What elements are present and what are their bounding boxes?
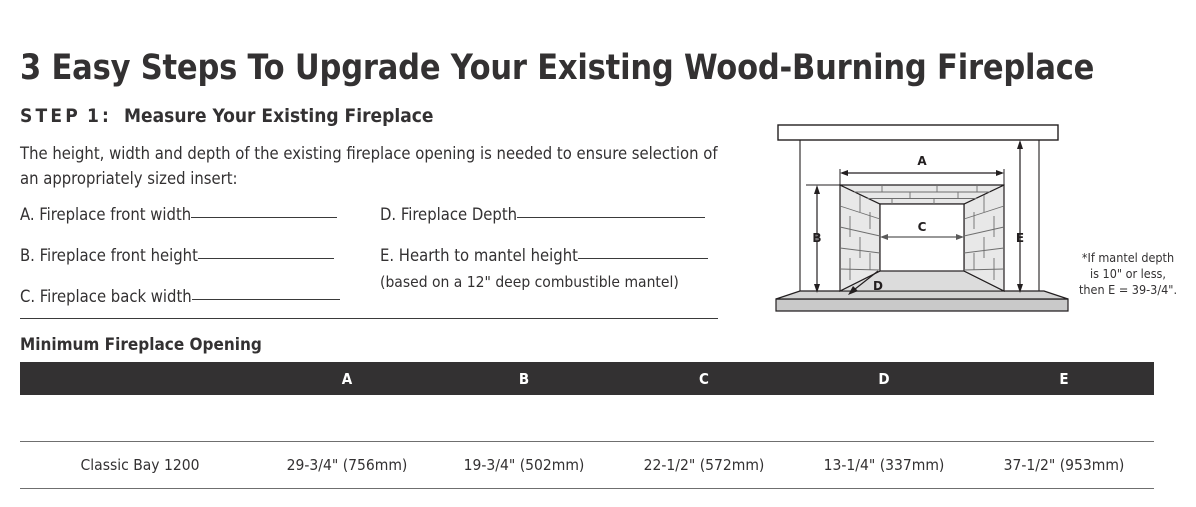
table-header-e: E	[974, 362, 1154, 395]
page-title: 3 Easy Steps To Upgrade Your Existing Wo…	[20, 48, 1094, 88]
cell-dimension-a: 29-3/4" (756mm)	[260, 442, 434, 489]
step-word: STEP	[20, 105, 81, 127]
measurement-blank-b[interactable]	[198, 258, 334, 259]
table-caption: Minimum Fireplace Opening	[20, 335, 262, 355]
hearth-slab-top	[776, 291, 1068, 299]
cell-model-name: Classic Bay 1200	[20, 442, 260, 489]
table-header-a: A	[260, 362, 434, 395]
dim-a-arrow-right	[996, 170, 1004, 176]
table-header-b: B	[434, 362, 614, 395]
measurement-label-a: A. Fireplace front width	[20, 205, 191, 224]
step-label: Measure Your Existing Fireplace	[124, 105, 433, 127]
diagram-label-b: B	[812, 231, 821, 245]
measurement-label-d: D. Fireplace Depth	[380, 205, 517, 224]
dim-a-arrow-left	[840, 170, 848, 176]
mantel-shelf	[778, 125, 1058, 140]
table-header-name	[20, 362, 260, 395]
table-header-d: D	[794, 362, 974, 395]
cell-dimension-e: 37-1/2" (953mm)	[974, 442, 1154, 489]
intro-paragraph: The height, width and depth of the exist…	[20, 141, 730, 191]
measurement-item-d: D. Fireplace Depth	[380, 205, 725, 224]
cell-dimension-d: 13-1/4" (337mm)	[794, 442, 974, 489]
measurement-label-b: B. Fireplace front height	[20, 246, 198, 265]
measurement-blank-d[interactable]	[517, 217, 705, 218]
measurement-blank-a[interactable]	[191, 217, 337, 218]
diagram-label-e: E	[1016, 231, 1024, 245]
table-header-row: A B C D E	[20, 362, 1154, 395]
footnote-line-3: then E = 39-3/4".	[1062, 282, 1194, 298]
table-row: Classic Bay 1200 29-3/4" (756mm) 19-3/4"…	[20, 442, 1154, 489]
table-spacer-row	[20, 395, 1154, 442]
minimum-fireplace-opening-table: A B C D E Classic Bay 1200 29-3/4" (756m…	[20, 362, 1154, 489]
dim-e-arrow-top	[1017, 140, 1023, 149]
measurement-list-right: D. Fireplace Depth E. Hearth to mantel h…	[380, 205, 725, 291]
measurement-item-e: E. Hearth to mantel height	[380, 246, 725, 265]
measurement-note: (based on a 12" deep combustible mantel)	[380, 273, 725, 291]
measurement-blank-c[interactable]	[192, 299, 340, 300]
measurement-item-b: B. Fireplace front height	[20, 246, 360, 265]
diagram-label-d: D	[873, 279, 883, 293]
cell-dimension-c: 22-1/2" (572mm)	[614, 442, 794, 489]
measurement-blank-e[interactable]	[578, 258, 708, 259]
measurement-list-left: A. Fireplace front width B. Fireplace fr…	[20, 205, 360, 328]
table-header-c: C	[614, 362, 794, 395]
footnote-line-2: is 10" or less,	[1062, 266, 1194, 282]
cell-dimension-b: 19-3/4" (502mm)	[434, 442, 614, 489]
page-root: 3 Easy Steps To Upgrade Your Existing Wo…	[0, 0, 1196, 507]
section-divider	[20, 318, 718, 319]
footnote-line-1: *If mantel depth	[1062, 250, 1194, 266]
measurement-label-e: E. Hearth to mantel height	[380, 246, 578, 265]
hearth-slab	[776, 299, 1068, 311]
diagram-label-c: C	[918, 220, 927, 234]
step-number: 1:	[87, 105, 112, 127]
diagram-label-a: A	[917, 154, 927, 168]
fireplace-diagram: A B C D E	[762, 115, 1082, 330]
measurement-item-a: A. Fireplace front width	[20, 205, 360, 224]
dim-b-arrow-top	[814, 185, 820, 194]
measurement-label-c: C. Fireplace back width	[20, 287, 192, 306]
measurement-item-c: C. Fireplace back width	[20, 287, 360, 306]
step-heading: STEP 1: Measure Your Existing Fireplace	[20, 105, 433, 127]
mantel-depth-footnote: *If mantel depth is 10" or less, then E …	[1062, 250, 1194, 298]
